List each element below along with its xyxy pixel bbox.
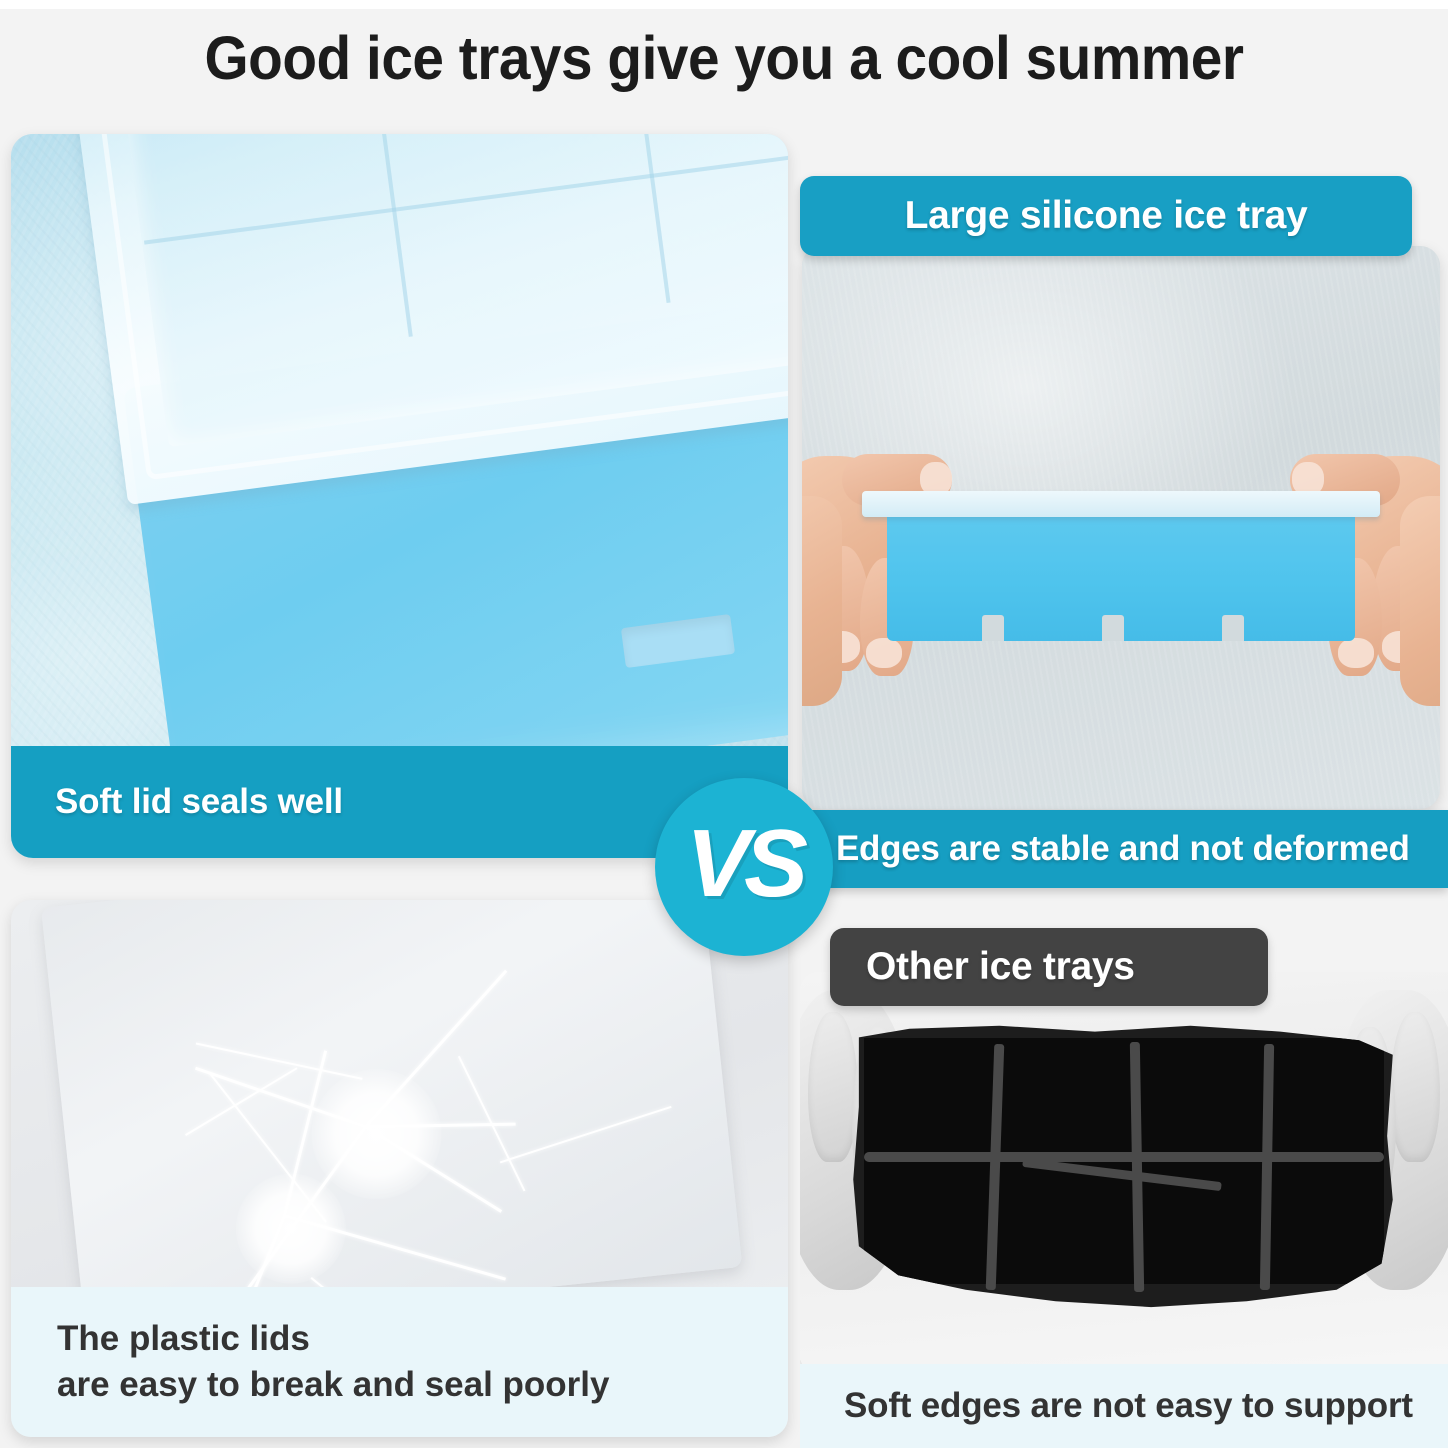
broken-lid-caption-line1: The plastic lids bbox=[57, 1316, 788, 1362]
tray-notch-1 bbox=[982, 615, 1004, 641]
left-wrist bbox=[802, 496, 842, 706]
blue-tray-held bbox=[887, 511, 1355, 641]
panel-soft-edges: Soft edges are not easy to support bbox=[800, 972, 1448, 1448]
crack-line-1 bbox=[365, 970, 508, 1128]
soft-edges-caption-text: Soft edges are not easy to support bbox=[844, 1386, 1413, 1426]
page-title: Good ice trays give you a cool summer bbox=[51, 10, 1398, 105]
banner-large-label: Large silicone ice tray bbox=[905, 194, 1308, 238]
banner-edges-stable: Edges are stable and not deformed bbox=[792, 810, 1448, 888]
panel-soft-lid: Soft lid seals well bbox=[11, 134, 788, 858]
tray-rib-horizontal bbox=[864, 1152, 1384, 1162]
soft-edges-caption: Soft edges are not easy to support bbox=[800, 1364, 1448, 1448]
banner-large-silicone-ice-tray: Large silicone ice tray bbox=[800, 176, 1412, 256]
tray-rib-vertical-2 bbox=[1130, 1042, 1144, 1292]
bw-right-finger-1 bbox=[1390, 1012, 1440, 1162]
soft-edges-photo bbox=[800, 972, 1448, 1364]
right-wrist bbox=[1400, 496, 1440, 706]
soft-lid-caption-text: Soft lid seals well bbox=[55, 782, 343, 822]
black-tray-cavity bbox=[864, 1038, 1384, 1284]
black-deformed-tray bbox=[842, 1020, 1404, 1310]
bw-left-palm bbox=[800, 990, 912, 1290]
broken-lid-caption-line2: are easy to break and seal poorly bbox=[57, 1362, 788, 1408]
crack-line-13 bbox=[185, 1067, 297, 1136]
panel-stable-edges bbox=[802, 246, 1440, 809]
infographic-root: Good ice trays give you a cool summer So… bbox=[0, 0, 1448, 1448]
bw-right-finger-2 bbox=[1344, 1027, 1396, 1207]
tray-rib-vertical-3 bbox=[1260, 1044, 1274, 1290]
panel-broken-lid: The plastic lids are easy to break and s… bbox=[11, 900, 788, 1437]
bw-left-finger-1 bbox=[808, 1012, 858, 1162]
vs-badge: VS bbox=[655, 778, 833, 956]
banner-other-ice-trays: Other ice trays bbox=[830, 928, 1268, 1006]
bw-left-finger-2 bbox=[852, 1027, 904, 1207]
crack-line-12 bbox=[500, 1106, 672, 1164]
lid-rim bbox=[91, 134, 788, 480]
right-middle-nail bbox=[1338, 638, 1374, 668]
vs-badge-label: VS bbox=[686, 809, 802, 919]
cracked-plastic-lid bbox=[41, 900, 742, 1336]
top-white-strip bbox=[0, 0, 1448, 9]
tray-notch-2 bbox=[1102, 615, 1124, 641]
tray-rib-horizontal-wave bbox=[1022, 1158, 1222, 1191]
crack-line-10 bbox=[196, 1043, 363, 1080]
blue-tray-held-lid bbox=[862, 491, 1380, 517]
tray-rib-vertical-1 bbox=[986, 1044, 1005, 1290]
tray-notch-3 bbox=[1222, 615, 1244, 641]
banner-other-label: Other ice trays bbox=[866, 945, 1135, 989]
banner-edges-label: Edges are stable and not deformed bbox=[836, 829, 1410, 869]
left-middle-nail bbox=[866, 638, 902, 668]
broken-lid-caption: The plastic lids are easy to break and s… bbox=[11, 1287, 788, 1437]
bw-right-palm bbox=[1336, 990, 1448, 1290]
